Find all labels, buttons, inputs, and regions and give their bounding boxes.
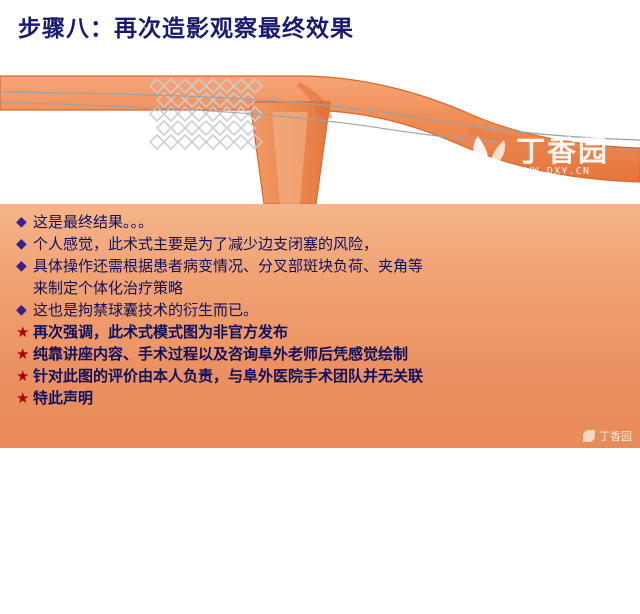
note-text: 这是最终结果。。。 — [33, 212, 153, 233]
watermark-brand: 丁香园 — [516, 128, 609, 170]
dxy-leaf-icon — [466, 128, 510, 172]
list-item: ★ 再次强调，此术式模式图为非官方发布 — [16, 322, 624, 343]
list-item: ★ 特此声明 — [16, 388, 624, 409]
page-title: 步骤八：再次造影观察最终效果 — [18, 9, 354, 43]
note-text: 来制定个体化治疗策略 — [33, 278, 183, 299]
diamond-bullet-icon: ◆ — [16, 212, 33, 233]
list-item: ◆ 这是最终结果。。。 — [16, 212, 624, 233]
slide-root: 步骤八：再次造影观察最终效果 — [0, 0, 640, 448]
diamond-bullet-icon: ◆ — [16, 300, 33, 321]
title-bar: 步骤八：再次造影观察最终效果 — [0, 0, 640, 52]
list-item: ◆ 个人感觉，此术式主要是为了减少边支闭塞的风险， — [16, 234, 624, 255]
notes-list: ◆ 这是最终结果。。。 ◆ 个人感觉，此术式主要是为了减少边支闭塞的风险， ◆ … — [16, 212, 624, 410]
note-text: 纯靠讲座内容、手术过程以及咨询阜外老师后凭感觉绘制 — [33, 344, 408, 365]
watermark-bottom-text: 丁香园 — [599, 428, 632, 444]
list-item-continuation: 来制定个体化治疗策略 — [33, 278, 624, 299]
list-item: ◆ 这也是拘禁球囊技术的衍生而已。 — [16, 300, 624, 321]
diamond-bullet-icon: ◆ — [16, 256, 33, 277]
star-bullet-icon: ★ — [16, 388, 33, 409]
list-item: ◆ 具体操作还需根据患者病变情况、分叉部斑块负荷、夹角等 — [16, 256, 624, 277]
star-bullet-icon: ★ — [16, 322, 33, 343]
note-text: 特此声明 — [33, 388, 93, 409]
watermark-url: WWW.DXY.CN — [518, 166, 590, 177]
note-text: 这也是拘禁球囊技术的衍生而已。 — [33, 300, 258, 321]
list-item: ★ 纯靠讲座内容、手术过程以及咨询阜外老师后凭感觉绘制 — [16, 344, 624, 365]
note-text: 个人感觉，此术式主要是为了减少边支闭塞的风险， — [33, 234, 378, 255]
dxy-leaf-small-icon — [583, 430, 595, 442]
note-text: 具体操作还需根据患者病变情况、分叉部斑块负荷、夹角等 — [33, 256, 423, 277]
note-text: 再次强调，此术式模式图为非官方发布 — [33, 322, 288, 343]
illustration-area: 丁香园 WWW.DXY.CN — [0, 52, 640, 204]
diamond-bullet-icon: ◆ — [16, 234, 33, 255]
list-item: ★ 针对此图的评价由本人负责，与阜外医院手术团队并无关联 — [16, 366, 624, 387]
watermark-diagonal: 原创绘制：靳志涛 独家授权丁香园转载 — [411, 504, 640, 614]
note-text: 针对此图的评价由本人负责，与阜外医院手术团队并无关联 — [33, 366, 423, 387]
star-bullet-icon: ★ — [16, 344, 33, 365]
notes-panel: ◆ 这是最终结果。。。 ◆ 个人感觉，此术式主要是为了减少边支闭塞的风险， ◆ … — [0, 204, 640, 448]
watermark-logo: 丁香园 WWW.DXY.CN — [466, 126, 626, 186]
star-bullet-icon: ★ — [16, 366, 33, 387]
watermark-bottom: 丁香园 — [583, 428, 632, 444]
